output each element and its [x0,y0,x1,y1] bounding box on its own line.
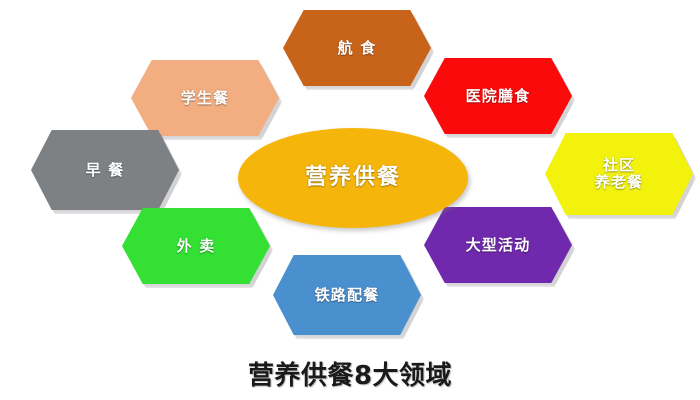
hex-label-breakfast: 早 餐 [82,162,129,179]
hex-node-community-elderly-meal[interactable]: 社区 养老餐 [545,133,693,215]
hex-node-railway-catering[interactable]: 铁路配餐 [273,255,421,335]
hex-node-takeout[interactable]: 外 卖 [122,208,270,284]
hex-node-hospital-diet[interactable]: 医院膳食 [424,58,572,134]
center-node-label: 营养供餐 [301,166,405,191]
hex-node-large-event[interactable]: 大型活动 [424,207,572,283]
hex-node-breakfast[interactable]: 早 餐 [31,130,179,210]
hex-label-aviation-food: 航 食 [334,40,381,57]
hex-label-railway-catering: 铁路配餐 [311,287,384,304]
hex-label-community-elderly-meal: 社区 养老餐 [591,157,648,191]
nutrition-catering-diagram: 航 食医院膳食学生餐社区 养老餐早 餐大型活动外 卖铁路配餐营养供餐 [0,0,700,400]
hex-node-student-meal[interactable]: 学生餐 [131,60,279,136]
hex-label-large-event: 大型活动 [462,237,535,254]
hex-label-hospital-diet: 医院膳食 [462,88,535,105]
diagram-caption: 营养供餐8大领域 [0,355,700,392]
hex-label-takeout: 外 卖 [173,238,220,255]
hex-node-aviation-food[interactable]: 航 食 [283,10,431,86]
hex-label-student-meal: 学生餐 [177,90,234,107]
center-node-nutrition-catering[interactable]: 营养供餐 [238,128,468,228]
